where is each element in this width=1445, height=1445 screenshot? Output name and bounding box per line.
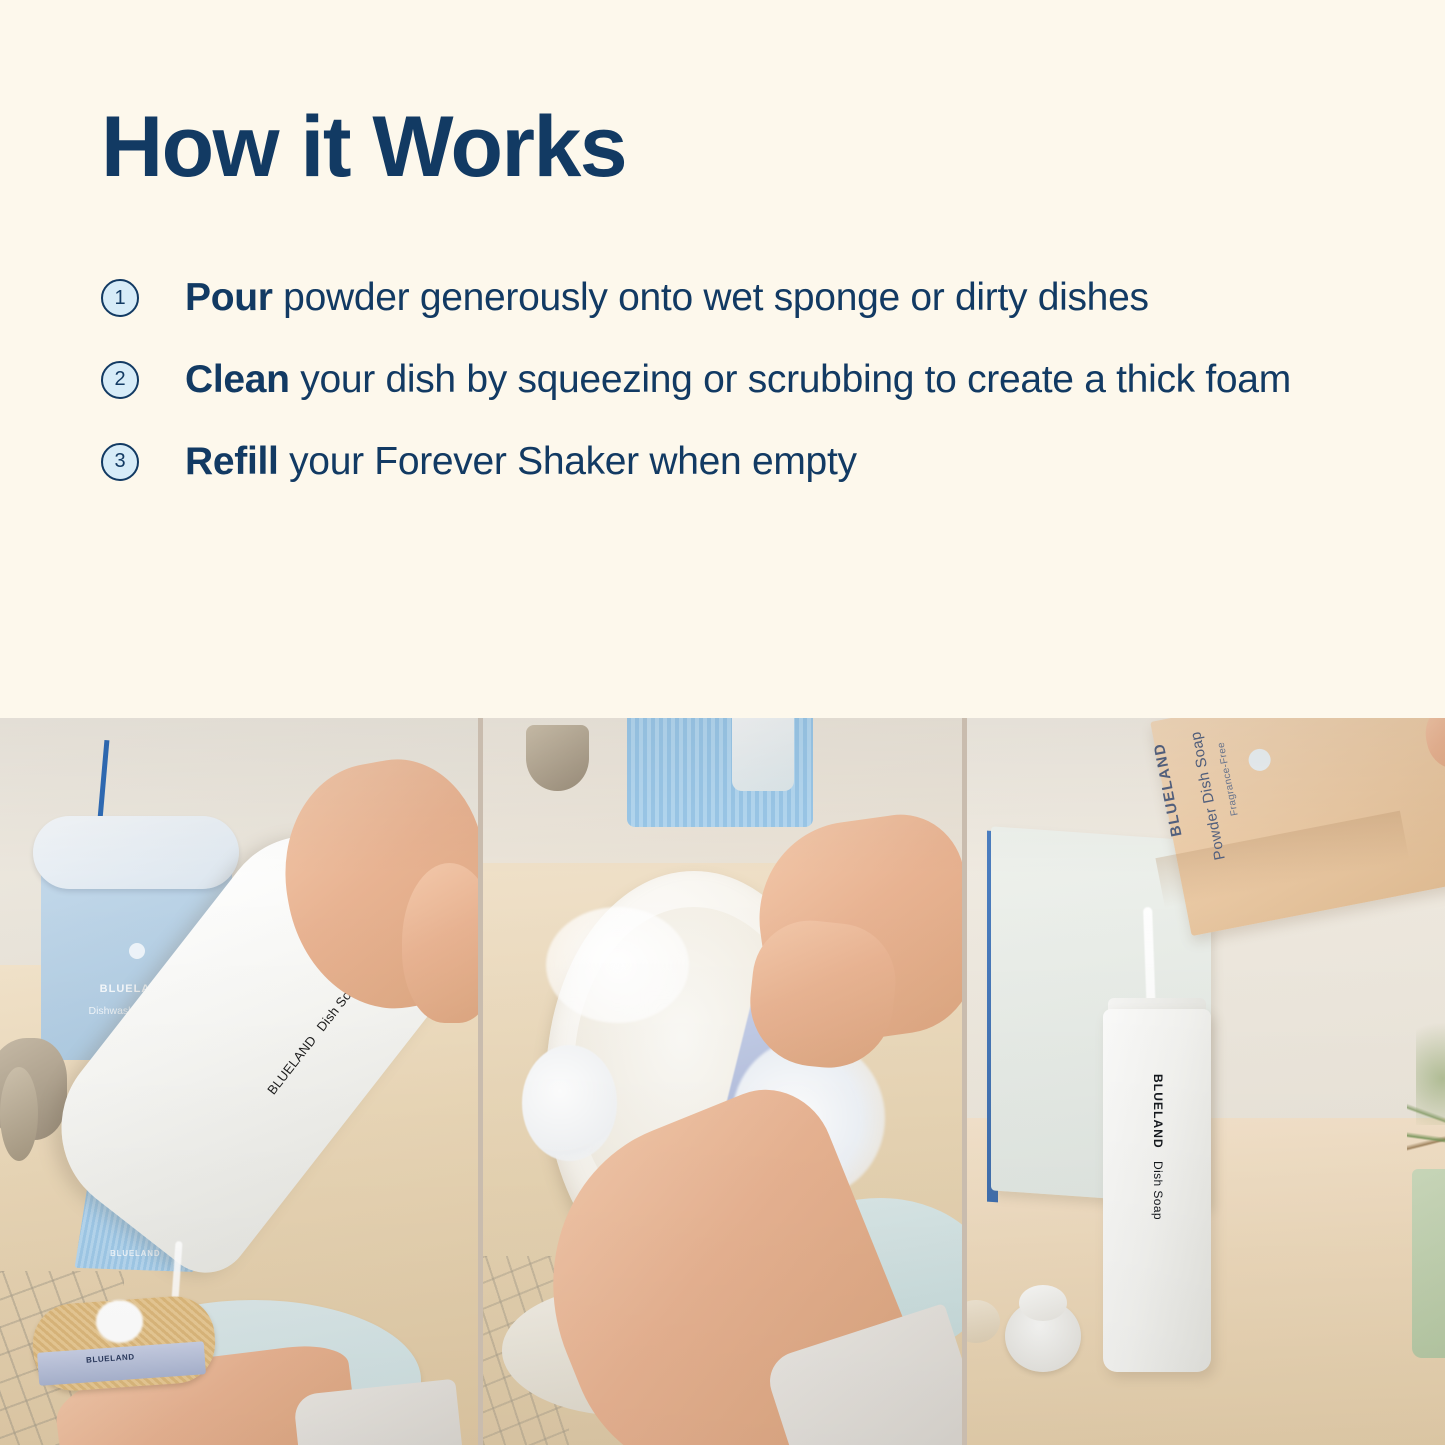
- photo-panel-clean: [483, 718, 961, 1445]
- how-it-works-page: How it Works 1 Pour powder generously on…: [0, 0, 1445, 1445]
- glass-vase: [1412, 1169, 1445, 1358]
- step-lead-1: Pour: [185, 276, 273, 319]
- step-number-badge-1: 1: [101, 279, 139, 317]
- step-number-badge-3: 3: [101, 443, 139, 481]
- photo-panel-pour: BLUELAND BLUELAND Dishwasher Tablets BLU…: [0, 718, 478, 1445]
- step-rest-3: your Forever Shaker when empty: [279, 440, 857, 483]
- bottle-product-label: Dish Soap: [1151, 1161, 1165, 1220]
- step-text-2: Clean your dish by squeezing or scrubbin…: [185, 354, 1291, 406]
- cloth-brand-label: BLUELAND: [110, 1249, 160, 1258]
- foam-rim: [546, 907, 689, 1023]
- step-item-3: 3 Refill your Forever Shaker when empty: [101, 436, 1361, 488]
- photo-panel-refill: BLUELAND Powder Dish Soap Fragrance-Free…: [967, 718, 1445, 1445]
- steps-list: 1 Pour powder generously onto wet sponge…: [101, 272, 1361, 488]
- step-item-2: 2 Clean your dish by squeezing or scrubb…: [101, 354, 1361, 406]
- photo-strip: BLUELAND BLUELAND Dishwasher Tablets BLU…: [0, 718, 1445, 1445]
- tin-lid: [33, 816, 239, 889]
- foam-drip: [522, 1045, 618, 1161]
- step-rest-2: your dish by squeezing or scrubbing to c…: [290, 358, 1291, 401]
- step-lead-3: Refill: [185, 440, 279, 483]
- instructions-section: How it Works 1 Pour powder generously on…: [0, 0, 1445, 718]
- step-text-1: Pour powder generously onto wet sponge o…: [185, 272, 1149, 324]
- step-text-3: Refill your Forever Shaker when empty: [185, 436, 857, 488]
- step-rest-1: powder generously onto wet sponge or dir…: [273, 276, 1149, 319]
- step-lead-2: Clean: [185, 358, 290, 401]
- soap-jar: [732, 718, 794, 791]
- step-item-1: 1 Pour powder generously onto wet sponge…: [101, 272, 1361, 324]
- bottle-brand-label: BLUELAND: [1151, 1074, 1165, 1149]
- page-title: How it Works: [101, 104, 626, 190]
- step-number-badge-2: 2: [101, 361, 139, 399]
- faucet: [526, 725, 588, 790]
